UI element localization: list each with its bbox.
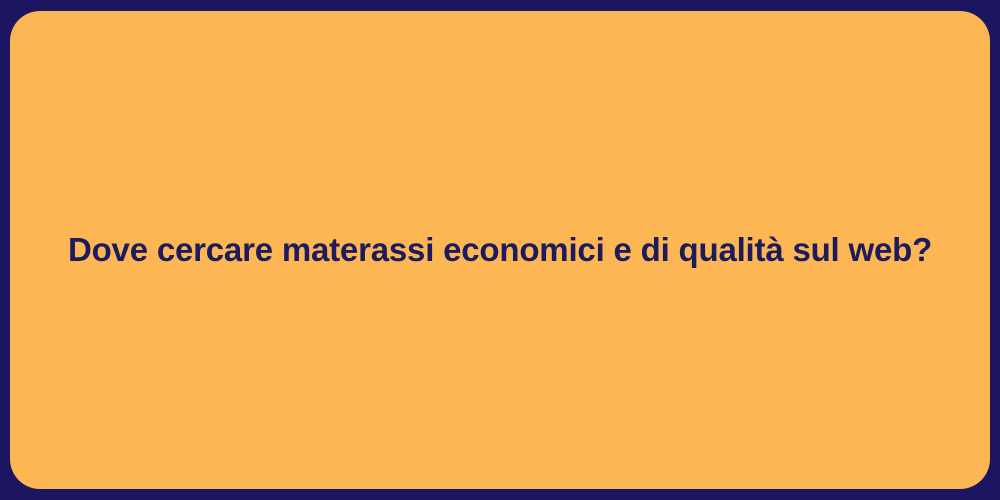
banner-headline: Dove cercare materassi economici e di qu…	[10, 229, 990, 270]
banner-panel: Dove cercare materassi economici e di qu…	[10, 11, 990, 489]
banner-frame: Dove cercare materassi economici e di qu…	[0, 0, 1000, 500]
